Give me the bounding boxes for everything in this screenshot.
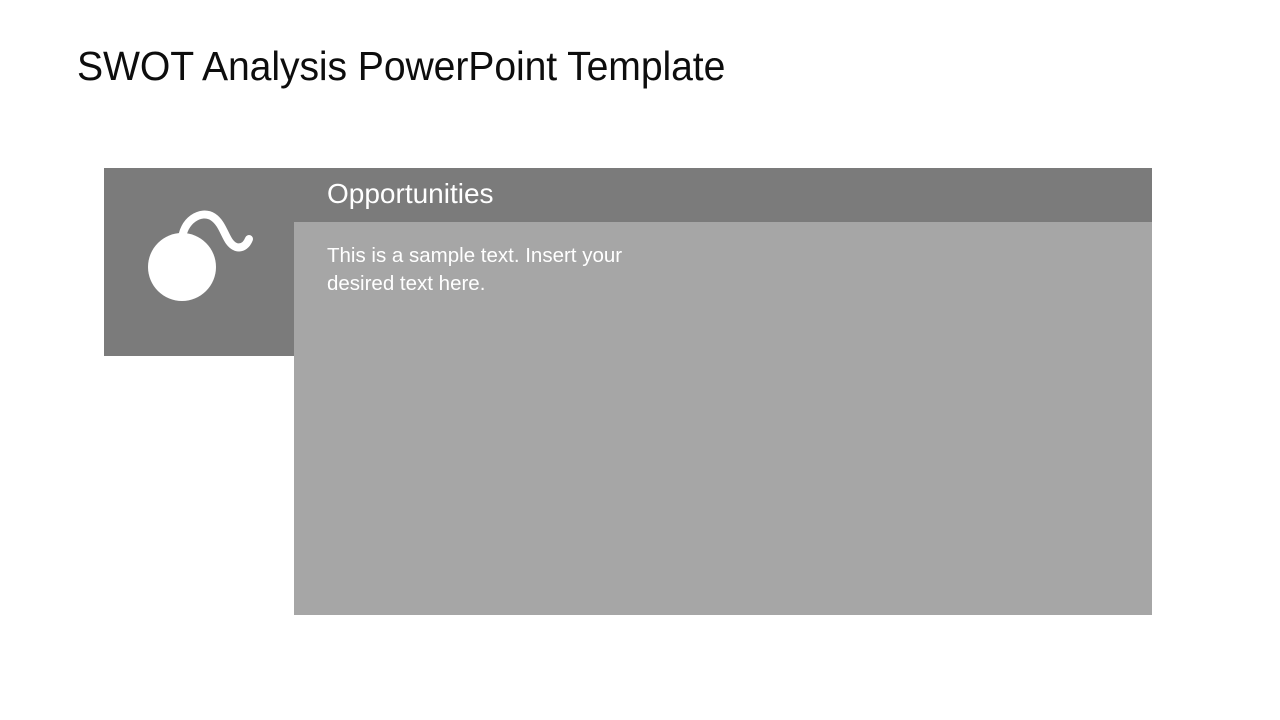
quadrant-body-text: This is a sample text. Insert your desir… — [327, 242, 692, 298]
quadrant-header-band: Opportunities — [294, 168, 1152, 222]
slide-canvas: SWOT Analysis PowerPoint Template Opport… — [0, 0, 1280, 720]
quadrant-heading: Opportunities — [327, 177, 494, 211]
page-title: SWOT Analysis PowerPoint Template — [77, 42, 725, 90]
icon-panel — [104, 168, 294, 356]
quadrant-body-panel[interactable]: This is a sample text. Insert your desir… — [294, 222, 1152, 615]
bomb-icon — [137, 199, 261, 311]
swot-quadrant-opportunities[interactable]: Opportunities This is a sample text. Ins… — [104, 168, 1152, 615]
